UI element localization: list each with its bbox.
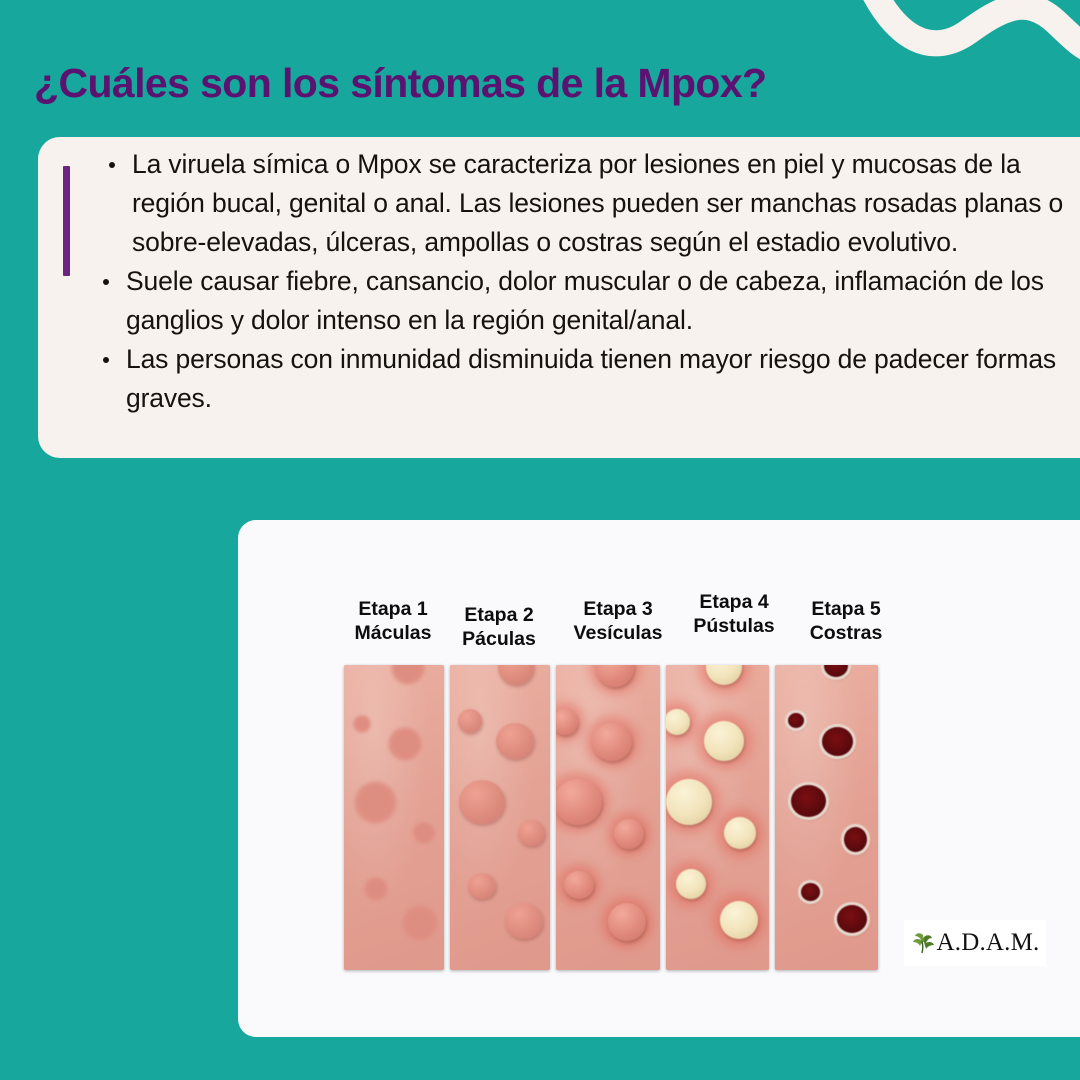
list-item: Las personas con inmunidad disminuida ti… [88, 340, 1080, 418]
lesion-panel-strip [344, 665, 878, 970]
list-item-text: Suele causar fiebre, cansancio, dolor mu… [126, 266, 1044, 335]
adam-logo: A.D.A.M. [904, 920, 1046, 966]
list-item-text: Las personas con inmunidad disminuida ti… [126, 344, 1056, 413]
lesion-panel-pustulas [666, 665, 769, 970]
lesion-panel-maculas [344, 665, 444, 970]
symptoms-list: La viruela símica o Mpox se caracteriza … [88, 145, 1080, 418]
stage-labels-row: Etapa 1 Máculas Etapa 2 Páculas Etapa 3 … [238, 585, 898, 655]
bullet-dot-icon [103, 279, 109, 285]
wave-decoration [856, 0, 1080, 72]
lesion-stages-card: Etapa 1 Máculas Etapa 2 Páculas Etapa 3 … [238, 520, 1080, 1037]
list-item-text: La viruela símica o Mpox se caracteriza … [132, 149, 1063, 257]
accent-bar [63, 166, 70, 276]
page-title: ¿Cuáles son los síntomas de la Mpox? [34, 60, 767, 107]
lesion-panel-paculas [450, 665, 550, 970]
adam-wordmark: A.D.A.M. [937, 929, 1040, 957]
infographic-page: { "theme": { "background_teal": "#17A79C… [0, 0, 1080, 1080]
lesion-panel-costras [775, 665, 878, 970]
list-item: Suele causar fiebre, cansancio, dolor mu… [88, 262, 1080, 340]
bullet-dot-icon [103, 357, 109, 363]
leaf-icon [911, 932, 935, 954]
bullet-dot-icon [109, 162, 115, 168]
symptoms-card: La viruela símica o Mpox se caracteriza … [38, 137, 1080, 458]
stage-number: Etapa 5 [781, 597, 911, 621]
stage-label-5: Etapa 5 Costras [781, 597, 911, 645]
stage-name: Costras [781, 621, 911, 645]
lesion-panel-vesiculas [556, 665, 659, 970]
list-item: La viruela símica o Mpox se caracteriza … [88, 145, 1080, 262]
